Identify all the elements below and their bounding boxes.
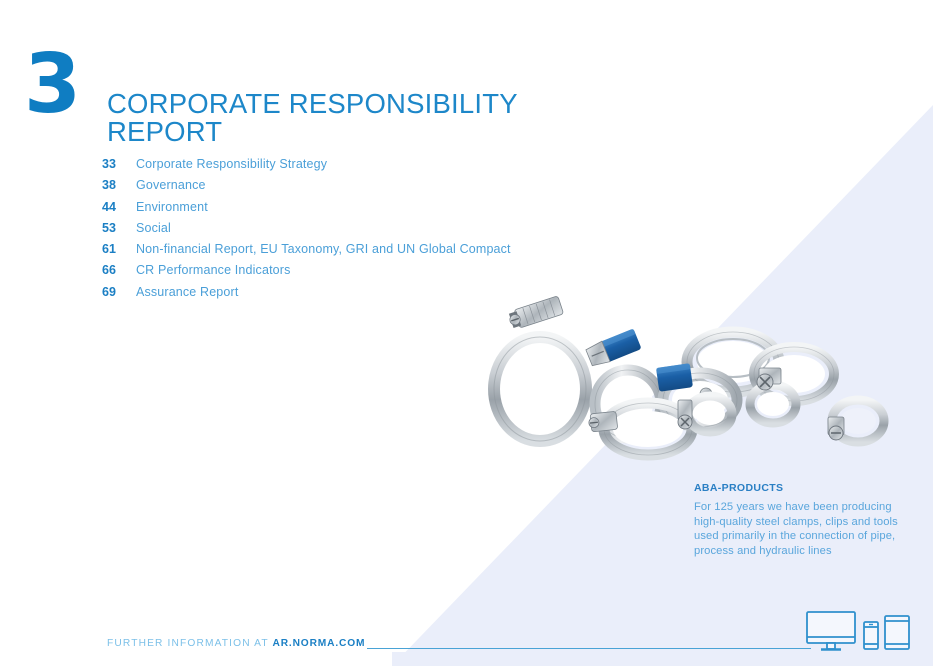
caption-body: For 125 years we have been producing hig…	[694, 500, 909, 558]
footer-divider	[367, 648, 811, 649]
toc-entry[interactable]: 61 Non-financial Report, EU Taxonomy, GR…	[102, 242, 511, 263]
toc-entry[interactable]: 69 Assurance Report	[102, 285, 511, 306]
toc-entry-label: CR Performance Indicators	[136, 263, 291, 277]
toc-entry[interactable]: 66 CR Performance Indicators	[102, 263, 511, 284]
toc-page-number: 69	[102, 285, 136, 299]
hose-clamps-photo	[478, 296, 908, 464]
smartphone-icon	[864, 622, 878, 649]
toc-entry-label: Non-financial Report, EU Taxonomy, GRI a…	[136, 242, 511, 256]
desktop-monitor-icon	[807, 612, 855, 650]
further-information-label: FURTHER INFORMATION AT AR.NORMA.COM	[107, 638, 365, 649]
footer-link[interactable]: AR.NORMA.COM	[273, 638, 366, 649]
toc-entry[interactable]: 44 Environment	[102, 200, 511, 221]
table-of-contents: 33 Corporate Responsibility Strategy 38 …	[102, 157, 511, 306]
toc-page-number: 33	[102, 157, 136, 171]
chapter-number: 3	[24, 44, 79, 126]
footer-prefix: FURTHER INFORMATION AT	[107, 638, 273, 649]
toc-entry-label: Social	[136, 221, 171, 235]
toc-entry-label: Assurance Report	[136, 285, 238, 299]
toc-page-number: 53	[102, 221, 136, 235]
toc-page-number: 44	[102, 200, 136, 214]
toc-page-number: 38	[102, 178, 136, 192]
toc-entry[interactable]: 38 Governance	[102, 178, 511, 199]
toc-entry-label: Corporate Responsibility Strategy	[136, 157, 327, 171]
toc-page-number: 61	[102, 242, 136, 256]
toc-entry[interactable]: 33 Corporate Responsibility Strategy	[102, 157, 511, 178]
caption-title: ABA-PRODUCTS	[694, 482, 909, 494]
toc-page-number: 66	[102, 263, 136, 277]
toc-entry[interactable]: 53 Social	[102, 221, 511, 242]
toc-entry-label: Environment	[136, 200, 208, 214]
product-caption: ABA-PRODUCTS For 125 years we have been …	[694, 482, 909, 558]
device-icons	[806, 610, 910, 654]
diagonal-background-footer-band	[392, 652, 933, 666]
tablet-icon	[885, 616, 909, 649]
page-title: CORPORATE RESPONSIBILITY REPORT	[107, 90, 627, 146]
toc-entry-label: Governance	[136, 178, 206, 192]
chapter-divider-page: 3 CORPORATE RESPONSIBILITY REPORT 33 Cor…	[0, 0, 933, 666]
